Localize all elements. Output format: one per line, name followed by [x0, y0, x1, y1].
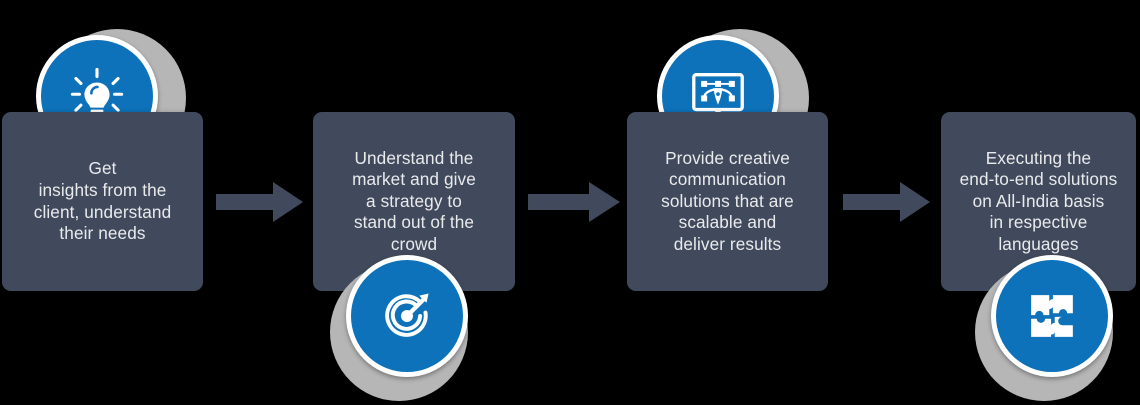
step-3-text: Provide creative communication solutions… [653, 148, 802, 256]
connector-arrow-2 [528, 182, 620, 222]
step-4-text: Executing the end-to-end solutions on Al… [952, 148, 1126, 256]
step-2-badge [330, 255, 490, 405]
step-3-card[interactable]: Provide creative communication solutions… [627, 112, 828, 291]
step-2-text: Understand the market and give a strateg… [344, 148, 484, 256]
puzzle-pieces-icon [1023, 287, 1081, 345]
step-4-icon-circle[interactable] [991, 255, 1113, 377]
target-icon [377, 286, 437, 346]
step-1-text: Get insights from the client, understand… [26, 158, 179, 244]
connector-arrow-1 [216, 182, 303, 222]
step-2-icon-circle[interactable] [346, 255, 468, 377]
connector-arrow-3 [843, 182, 930, 222]
process-flow-diagram: Get insights from the client, understand… [0, 0, 1140, 400]
step-4-badge [975, 255, 1135, 405]
step-1-card[interactable]: Get insights from the client, understand… [2, 112, 203, 291]
